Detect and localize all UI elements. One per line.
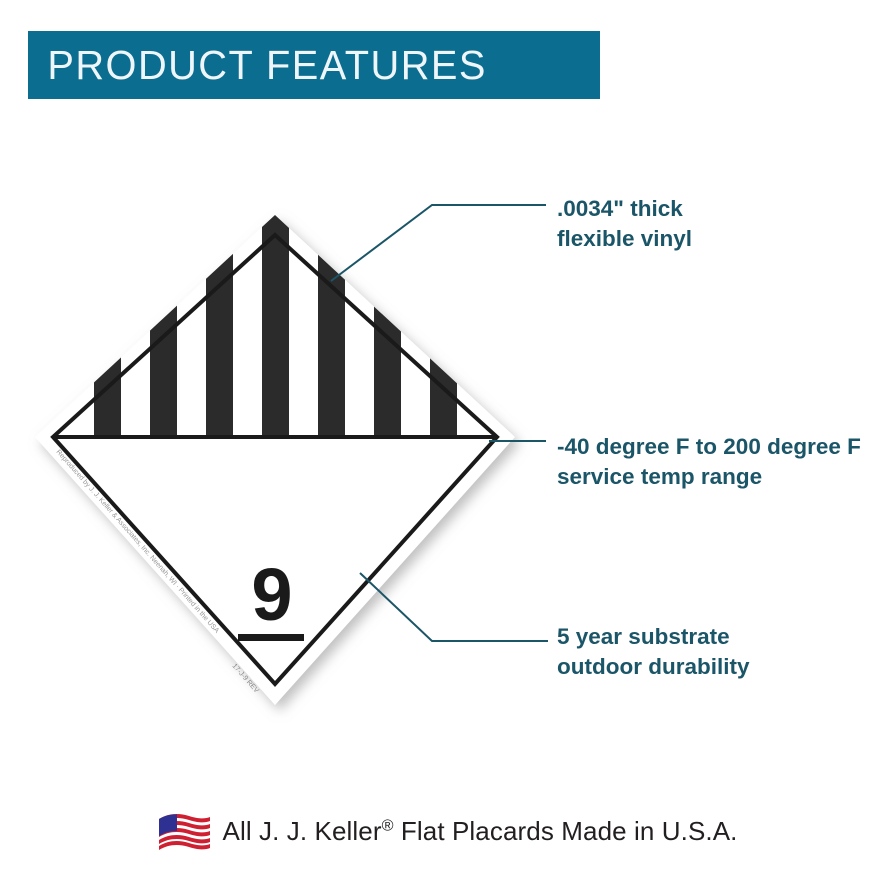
annotation-durability-line1: 5 year substrate <box>557 624 730 649</box>
us-flag-icon <box>157 812 211 850</box>
annotation-temp-line1: -40 degree F to 200 degree F <box>557 434 861 459</box>
footer-text-after: Flat Placards Made in U.S.A. <box>394 816 738 846</box>
footer-text-before: All J. J. Keller <box>223 816 382 846</box>
annotation-thickness: .0034" thick flexible vinyl <box>557 194 692 254</box>
product-features-page: PRODUCT FEATURES <box>0 0 894 894</box>
placard-illustration: 9 Reproduced by J. J. Keller & Associate… <box>10 190 540 730</box>
page-title: PRODUCT FEATURES <box>28 45 487 86</box>
annotation-durability: 5 year substrate outdoor durability <box>557 622 749 682</box>
class-9-placard-graphic: 9 Reproduced by J. J. Keller & Associate… <box>10 190 540 730</box>
registered-mark: ® <box>382 816 394 834</box>
annotation-durability-line2: outdoor durability <box>557 652 749 682</box>
placard-class-number-underline <box>238 634 304 641</box>
footer: All J. J. Keller® Flat Placards Made in … <box>0 800 894 862</box>
annotation-thickness-line1: .0034" thick <box>557 196 683 221</box>
placard-class-number: 9 <box>251 553 292 636</box>
annotation-temp: -40 degree F to 200 degree F service tem… <box>557 432 861 492</box>
annotation-thickness-line2: flexible vinyl <box>557 224 692 254</box>
annotation-temp-line2: service temp range <box>557 462 861 492</box>
product-features-banner: PRODUCT FEATURES <box>28 31 600 99</box>
footer-text: All J. J. Keller® Flat Placards Made in … <box>223 816 738 847</box>
